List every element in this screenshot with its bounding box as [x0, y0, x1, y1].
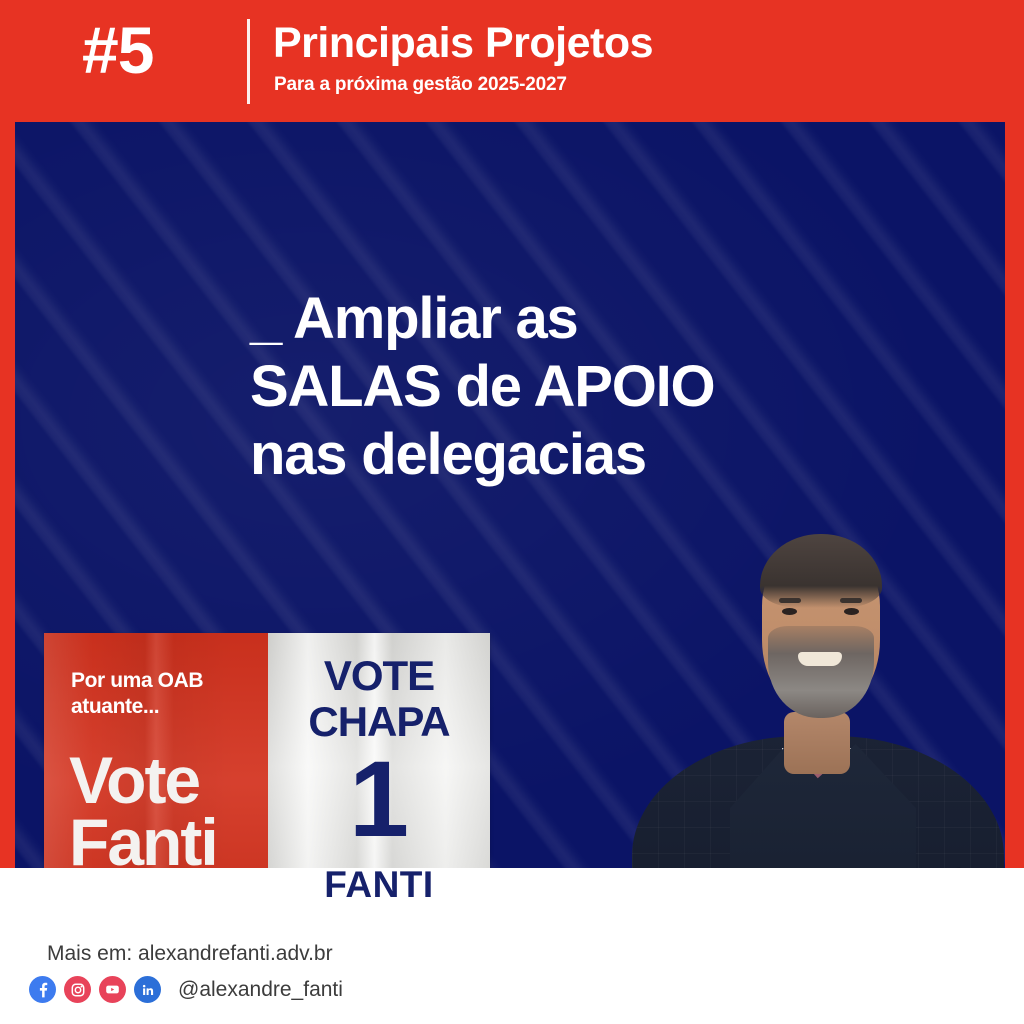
- eyebrow-right: [840, 598, 862, 603]
- eye-right: [844, 608, 859, 615]
- website-line: Mais em: alexandrefanti.adv.br: [47, 943, 333, 964]
- social-links-row: @alexandre_fanti: [29, 976, 343, 1003]
- headline-dash: _: [250, 286, 280, 351]
- poster-vote-label: VOTE: [268, 655, 490, 697]
- headline-line-2: SALAS de APOIO: [250, 354, 714, 419]
- youtube-icon[interactable]: [99, 976, 126, 1003]
- poster-slate-number: 1: [268, 745, 490, 853]
- eye-left: [782, 608, 797, 615]
- instagram-icon[interactable]: [64, 976, 91, 1003]
- beard: [768, 626, 874, 718]
- eyebrow-left: [779, 598, 801, 603]
- poster-tagline: Por uma OAB atuante...: [71, 668, 256, 719]
- social-handle: @alexandre_fanti: [178, 979, 343, 1000]
- header-divider: [247, 19, 250, 104]
- hair: [760, 534, 882, 608]
- facebook-icon[interactable]: [29, 976, 56, 1003]
- headline-line-3: nas delegacias: [250, 422, 646, 487]
- header-bar: #5 Principais Projetos Para a próxima ge…: [0, 0, 1024, 122]
- neck: [784, 712, 850, 774]
- header-title: Principais Projetos: [273, 22, 653, 65]
- footer-bar: Mais em: alexandrefanti.adv.br: [0, 868, 1024, 1024]
- poster-name-label: FANTI: [268, 866, 490, 903]
- poster-chapa-label: CHAPA: [268, 701, 490, 743]
- poster-candidate-name: Fanti: [69, 812, 217, 873]
- campaign-slide: #5 Principais Projetos Para a próxima ge…: [0, 0, 1024, 1024]
- linkedin-icon[interactable]: [134, 976, 161, 1003]
- poster-vote-word: Vote: [69, 750, 199, 811]
- smile: [798, 652, 842, 666]
- poster-paper-panel: VOTE CHAPA 1 FANTI: [268, 633, 490, 930]
- headline-block: _ Ampliar as SALAS de APOIO nas delegaci…: [250, 285, 810, 489]
- header-subtitle: Para a próxima gestão 2025-2027: [274, 75, 567, 94]
- headline-line-1: Ampliar as: [293, 286, 578, 351]
- slide-number: #5: [82, 17, 153, 83]
